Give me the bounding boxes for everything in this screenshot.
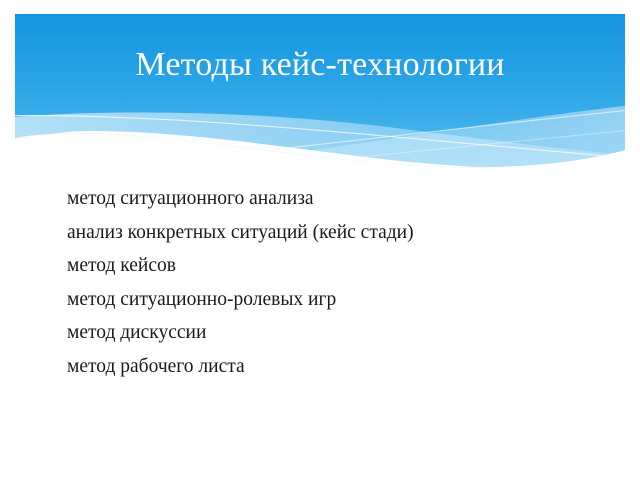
wave-banner-fill [0,0,640,180]
list-item: метод ситуационно-ролевых игр [67,283,587,317]
list-item: анализ конкретных ситуаций (кейс стади) [67,216,587,250]
list-item: метод дискуссии [67,316,587,350]
wave-banner-graphic [0,0,640,180]
presentation-slide: Методы кейс-технологии метод ситуационно… [0,0,640,480]
list-item: метод ситуационного анализа [67,182,587,216]
methods-list: метод ситуационного анализа анализ конкр… [67,182,587,383]
list-item: метод рабочего листа [67,350,587,384]
page-title: Методы кейс-технологии [0,44,640,86]
wave-banner [0,0,640,180]
list-item: метод кейсов [67,249,587,283]
